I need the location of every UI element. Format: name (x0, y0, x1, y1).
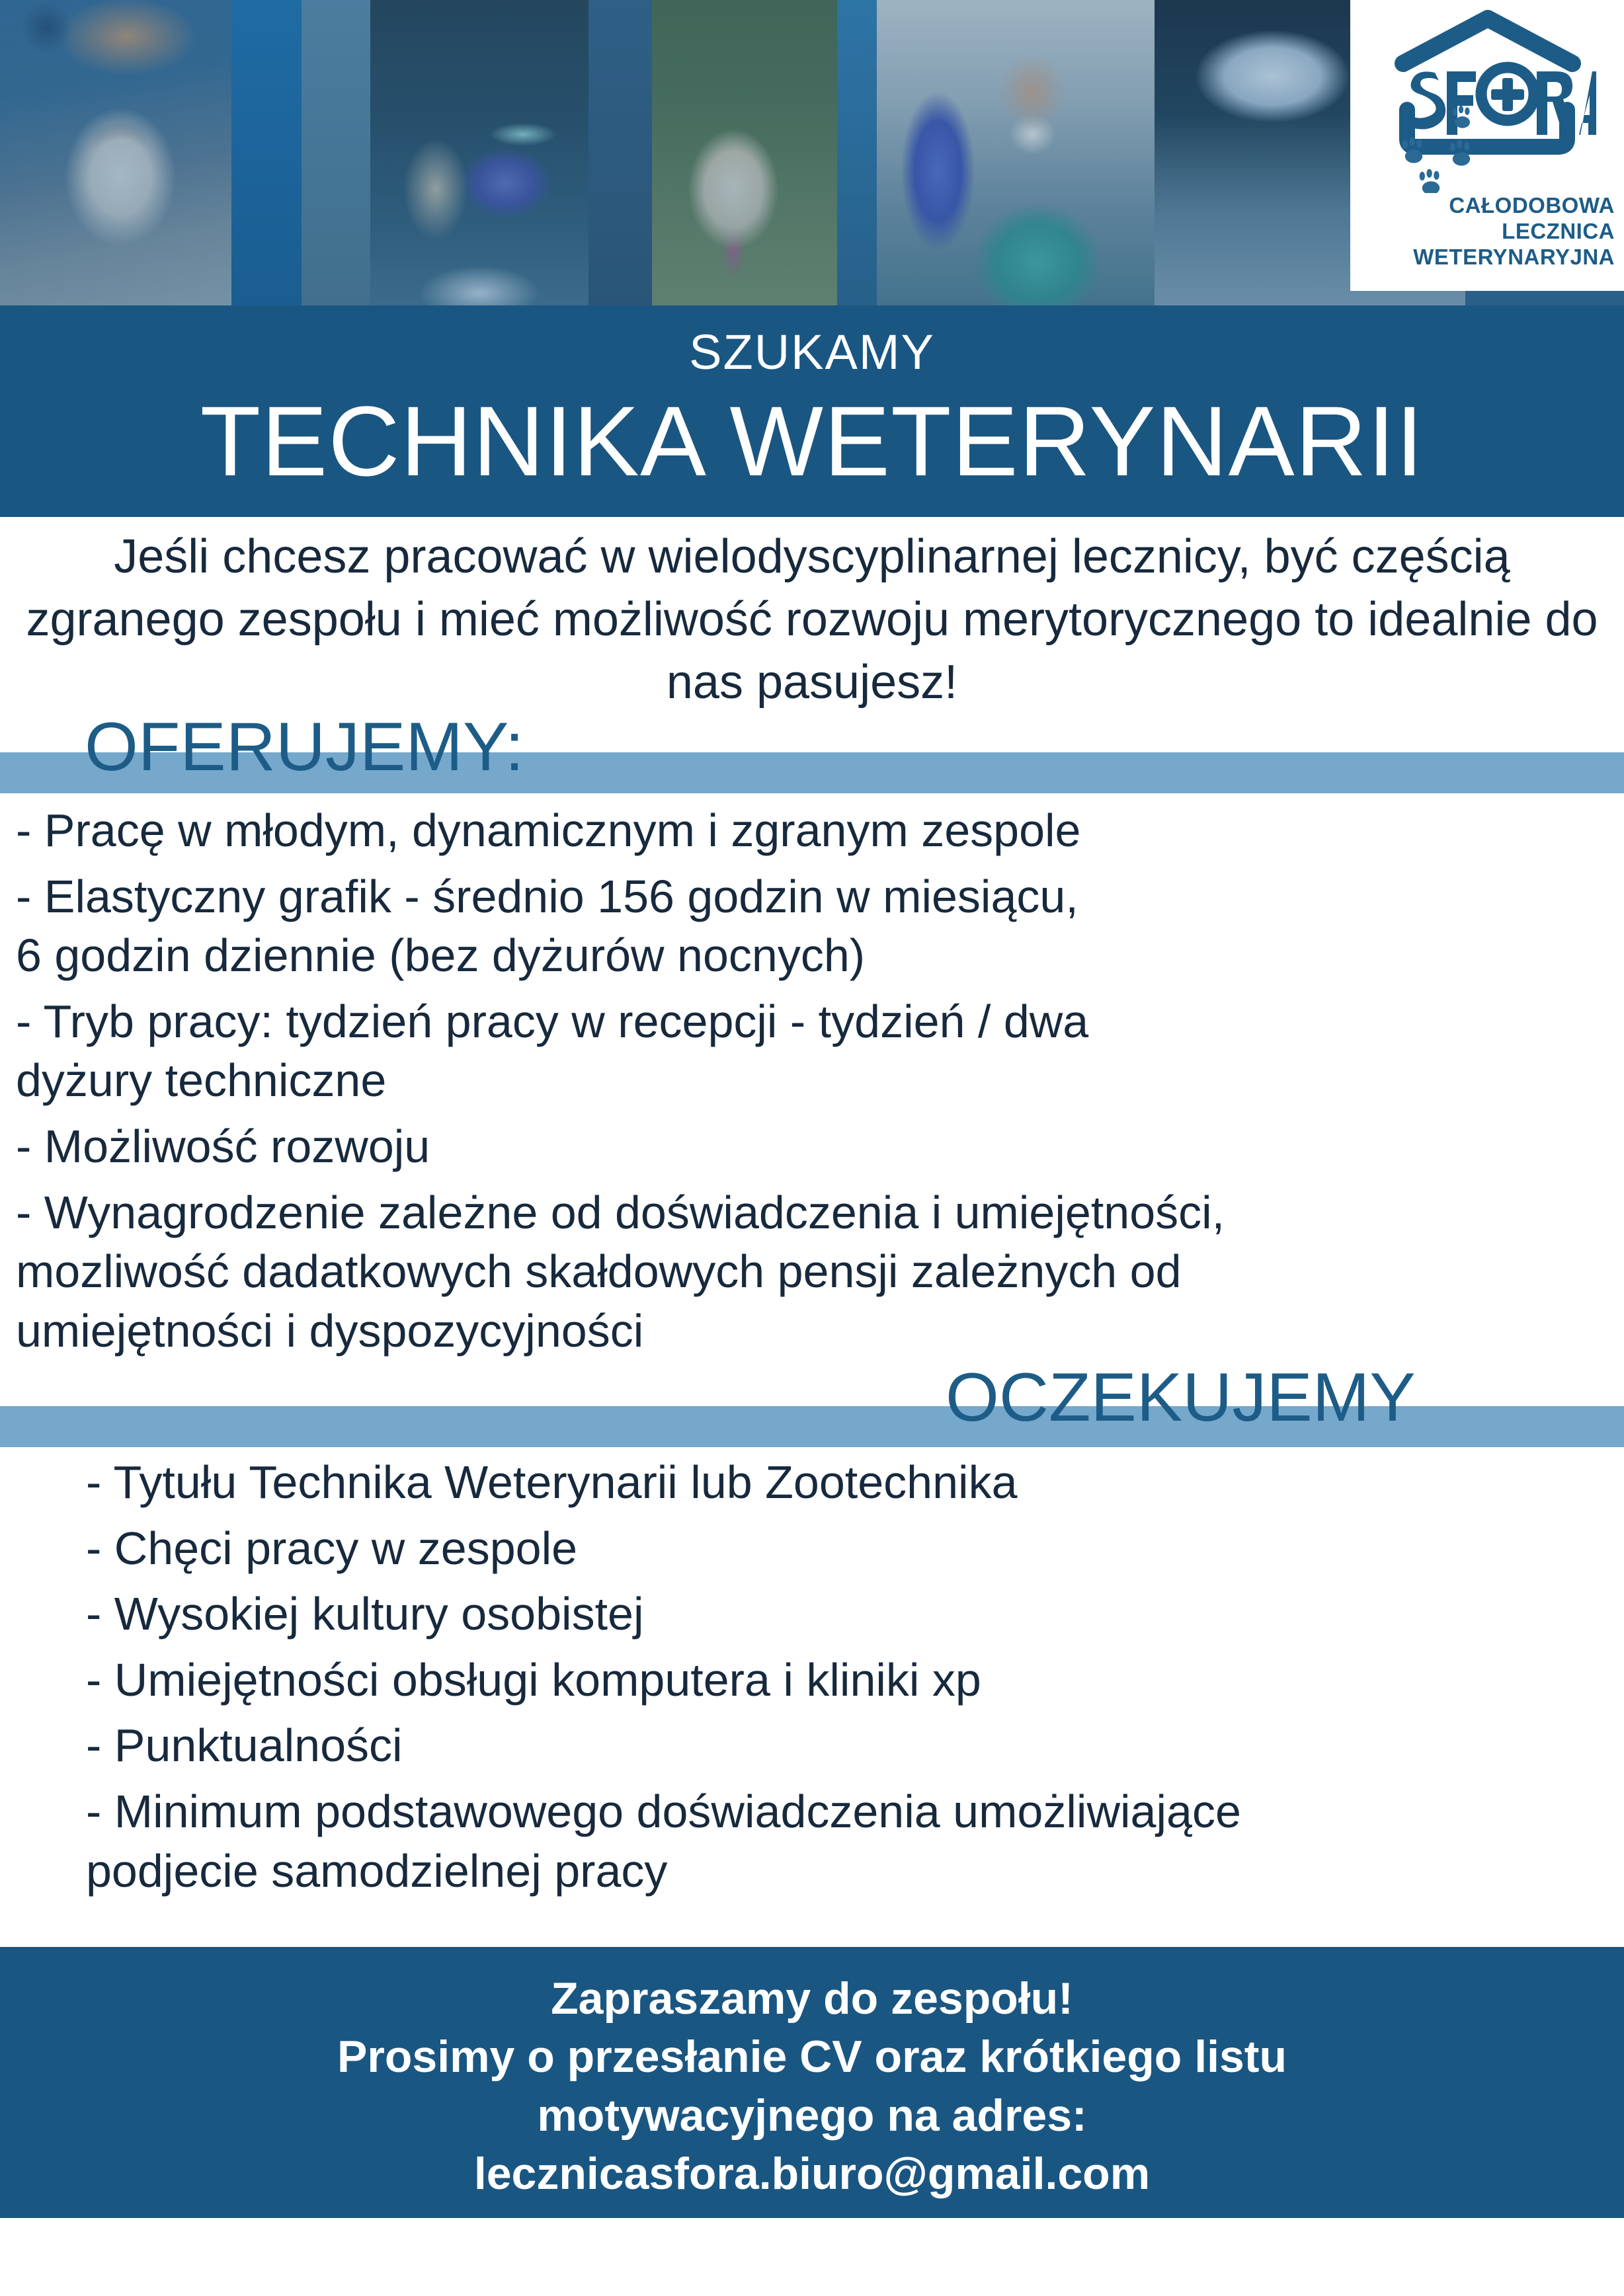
logo-tagline-line-2: LECZNICA (1350, 219, 1615, 245)
blue-slab-mid-art (589, 0, 652, 305)
blue-slab-mid (589, 0, 652, 305)
list-item: - Możliwość rozwoju (16, 1117, 1609, 1177)
list-item: - Punktualności (86, 1716, 1620, 1776)
list-item: - Wynagrodzenie zależne od doświadczenia… (16, 1183, 1609, 1361)
blue-slab-left (302, 0, 370, 305)
blue-tint-overlay (370, 0, 589, 305)
blue-slab-left-art (302, 0, 370, 305)
list-item: - Umiejętności obsługi komputera i klini… (86, 1651, 1620, 1710)
footer-contact-block: Zapraszamy do zespołu! Prosimy o przesła… (0, 1947, 1624, 2218)
offer-section-title: OFERUJEMY: (85, 713, 524, 781)
list-item: - Tryb pracy: tydzień pracy w recepcji -… (16, 992, 1609, 1111)
blue-gap-art (837, 0, 877, 305)
logo: CAŁODOBOWA LECZNICA WETERYNARYJNA (1350, 0, 1624, 291)
vet-with-mask-photo (877, 0, 1155, 305)
sfora-logo-icon (1378, 9, 1596, 193)
footer-instruction-line-1: Prosimy o przesłanie CV oraz krótkiego l… (0, 2028, 1624, 2086)
logo-tagline-line-3: WETERYNARYJNA (1350, 245, 1615, 270)
footer-instruction-line-2: motywacyjnego na adres: (0, 2086, 1624, 2145)
blue-divider-art (231, 0, 302, 305)
kicker-text: SZUKAMY (0, 305, 1624, 377)
list-item: - Elastyczny grafik - średnio 156 godzin… (16, 867, 1609, 986)
expect-section-title: OCZEKUJEMY (946, 1363, 1416, 1432)
offer-list: - Pracę w młodym, dynamicznym i zgranym … (16, 801, 1609, 1367)
blue-tint-overlay (652, 0, 837, 305)
logo-tagline-line-1: CAŁODOBOWA (1350, 193, 1615, 219)
page-title: TECHNIKA WETERYNARII (0, 377, 1624, 491)
list-item: - Pracę w młodym, dynamicznym i zgranym … (16, 801, 1609, 861)
labrador-photo (652, 0, 837, 305)
list-item: - Wysokiej kultury osobistej (86, 1585, 1620, 1644)
blue-tint-overlay (0, 0, 231, 305)
footer-invite-line: Zapraszamy do zespołu! (0, 1969, 1624, 2028)
list-item: - Tytułu Technika Weterynarii lub Zootec… (86, 1453, 1620, 1513)
puppy-photo (0, 0, 231, 305)
blue-gap (837, 0, 877, 305)
intro-paragraph: Jeśli chcesz pracować w wielodyscyplinar… (0, 526, 1624, 714)
list-item: - Chęci pracy w zespole (86, 1519, 1620, 1579)
expect-list: - Tytułu Technika Weterynarii lub Zootec… (86, 1453, 1620, 1907)
header-band: SZUKAMY TECHNIKA WETERYNARII (0, 305, 1624, 517)
list-item: - Minimum podstawowego doświadczenia umo… (86, 1782, 1620, 1901)
contact-email[interactable]: lecznicasfora.biuro@gmail.com (0, 2145, 1624, 2203)
blue-divider (231, 0, 302, 305)
blue-tint-overlay (877, 0, 1155, 305)
logo-tagline: CAŁODOBOWA LECZNICA WETERYNARYJNA (1350, 193, 1624, 270)
dental-procedure-photo (370, 0, 589, 305)
job-poster: CAŁODOBOWA LECZNICA WETERYNARYJNA SZUKAM… (0, 0, 1624, 2296)
